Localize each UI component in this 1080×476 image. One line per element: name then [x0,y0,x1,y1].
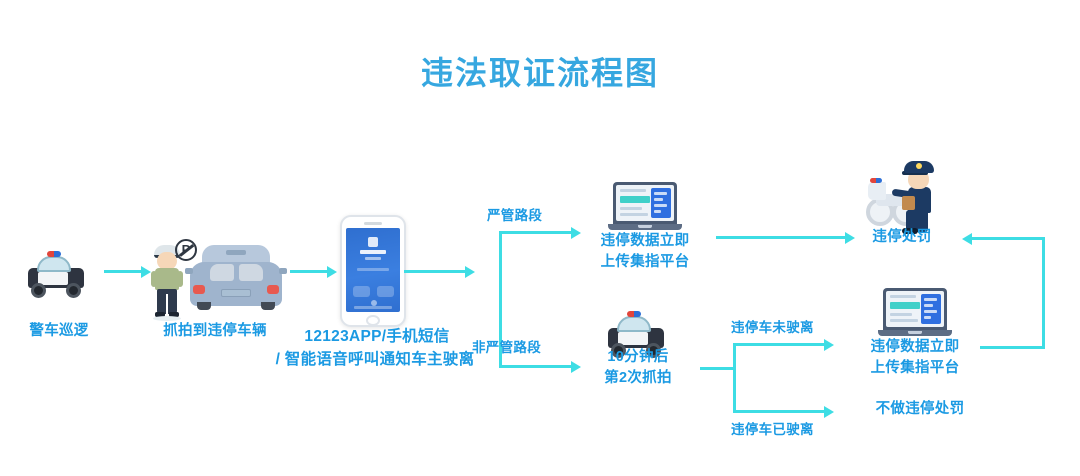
edge-non-strict-road-line [499,365,572,368]
edge-not-left-arrowhead [824,339,834,351]
laptop-screen-bar-3 [890,319,918,322]
laptop-lid [613,182,677,224]
car-window-right [239,264,263,281]
node-label-penalty: 违停处罚 [850,228,954,247]
smartphone-icon [340,215,406,327]
edge-already-left-line [733,410,825,413]
edge-strict-road-arrowhead [571,227,581,239]
edge-patrol-to-capture-line [104,270,142,273]
laptop-icon-strict [608,182,682,230]
edge-notify-to-split-arrowhead [465,266,475,278]
return-loop-top-line [972,237,1045,240]
police-car-cabin [617,316,651,332]
flowchart-canvas: 违法取证流程图 警车巡逻 P 抓拍 [0,0,1080,476]
car-tire-right [261,302,275,310]
police-car-door [38,272,68,285]
edge-strict-road-line [499,231,572,234]
officer-rider-bag [902,196,915,210]
return-loop-bottom-line [980,346,1045,349]
laptop-lid [883,288,947,330]
car-tire-left [197,302,211,310]
edge-label-not-left: 违停车未驶离 [731,318,841,337]
edge-label-already-left: 违停车已驶离 [731,420,841,439]
car-body [190,262,282,306]
phone-app-card-right [377,286,394,297]
police-car-lightbar [627,311,641,317]
laptop-screen-highlight [620,196,650,203]
edge-capture-to-notify-line [290,270,328,273]
laptop-trackpad-notch [908,331,922,334]
phone-screen [346,228,400,312]
node-label-notify-line2: / 智能语音呼叫通知车主驶离 [255,349,495,371]
split2-spine-vertical [733,343,736,413]
laptop-icon-second-upload [878,288,952,336]
car-taillight-left [193,285,205,294]
laptop-screen-bar-2 [620,207,642,210]
officer-shadow [153,316,181,321]
car-taillight-right [267,285,279,294]
node-label-patrol: 警车巡逻 [4,322,114,341]
laptop-screen-panel [651,188,671,218]
phone-home-button [366,315,380,326]
edge-upload-strict-to-penalty-line [716,236,846,239]
officer-leg-gap [166,294,168,314]
edge-label-strict-road: 严管路段 [487,206,577,225]
phone-app-card-left [353,286,370,297]
node-label-upload-again-line2: 上传集指平台 [855,359,975,378]
parked-car-icon [190,240,282,312]
officer-torso [155,268,179,290]
police-car-icon [24,252,90,302]
phone-app-title-bar [360,250,386,254]
node-label-upload-strict-line1: 违停数据立即 [585,232,705,251]
node-label-no-penalty: 不做违停处罚 [858,400,982,419]
node-label-second-capture-line2: 第2次抓拍 [582,369,694,388]
car-mirror-right [279,268,287,274]
edge-already-left-arrowhead [824,406,834,418]
laptop-screen [886,291,944,327]
phone-app-subtitle-bar [365,257,381,260]
laptop-screen-highlight [890,302,920,309]
node-label-upload-again-line1: 违停数据立即 [855,338,975,357]
node-label-notify-line1: 12123APP/手机短信 [262,326,492,348]
laptop-screen [616,185,674,221]
edge-non-strict-road-arrowhead [571,361,581,373]
car-window-left [210,264,234,281]
return-loop-vertical-line [1042,237,1045,349]
phone-app-text-bar [357,268,389,271]
police-car-wheel-right [66,283,81,298]
node-label-second-capture-line1: 10分钟后 [582,348,694,367]
edge-notify-to-split-line [404,270,466,273]
laptop-screen-panel [921,294,941,324]
police-car-lightbar [47,251,61,257]
node-label-upload-strict-line2: 上传集指平台 [585,253,705,272]
phone-app-logo [368,237,378,247]
laptop-trackpad-notch [638,225,652,228]
police-car-door [618,332,648,345]
edge-not-left-line [733,343,825,346]
car-mirror-left [185,268,193,274]
edge-second-capture-to-split-line [700,367,733,370]
return-loop-arrowhead [962,233,972,245]
laptop-screen-bar-3 [620,213,648,216]
police-car-wheel-left [31,283,46,298]
phone-speaker [364,222,382,225]
phone-app-footer-bar [354,306,392,309]
car-license-plate [221,289,251,297]
laptop-screen-bar-1 [620,189,646,192]
police-car-cabin [37,256,71,272]
officer-rider-cap-badge [916,163,922,169]
laptop-screen-bar-1 [890,295,916,298]
motorcycle-fairing [868,182,886,200]
page-title: 违法取证流程图 [0,48,1080,94]
traffic-police-motorcycle-icon [866,160,938,236]
laptop-screen-bar-2 [890,313,912,316]
car-rear-light-strip [226,250,246,255]
edge-label-non-strict-road: 非严管路段 [472,338,582,357]
edge-capture-to-notify-arrowhead [327,266,337,278]
motorcycle-lightbar [870,178,882,183]
